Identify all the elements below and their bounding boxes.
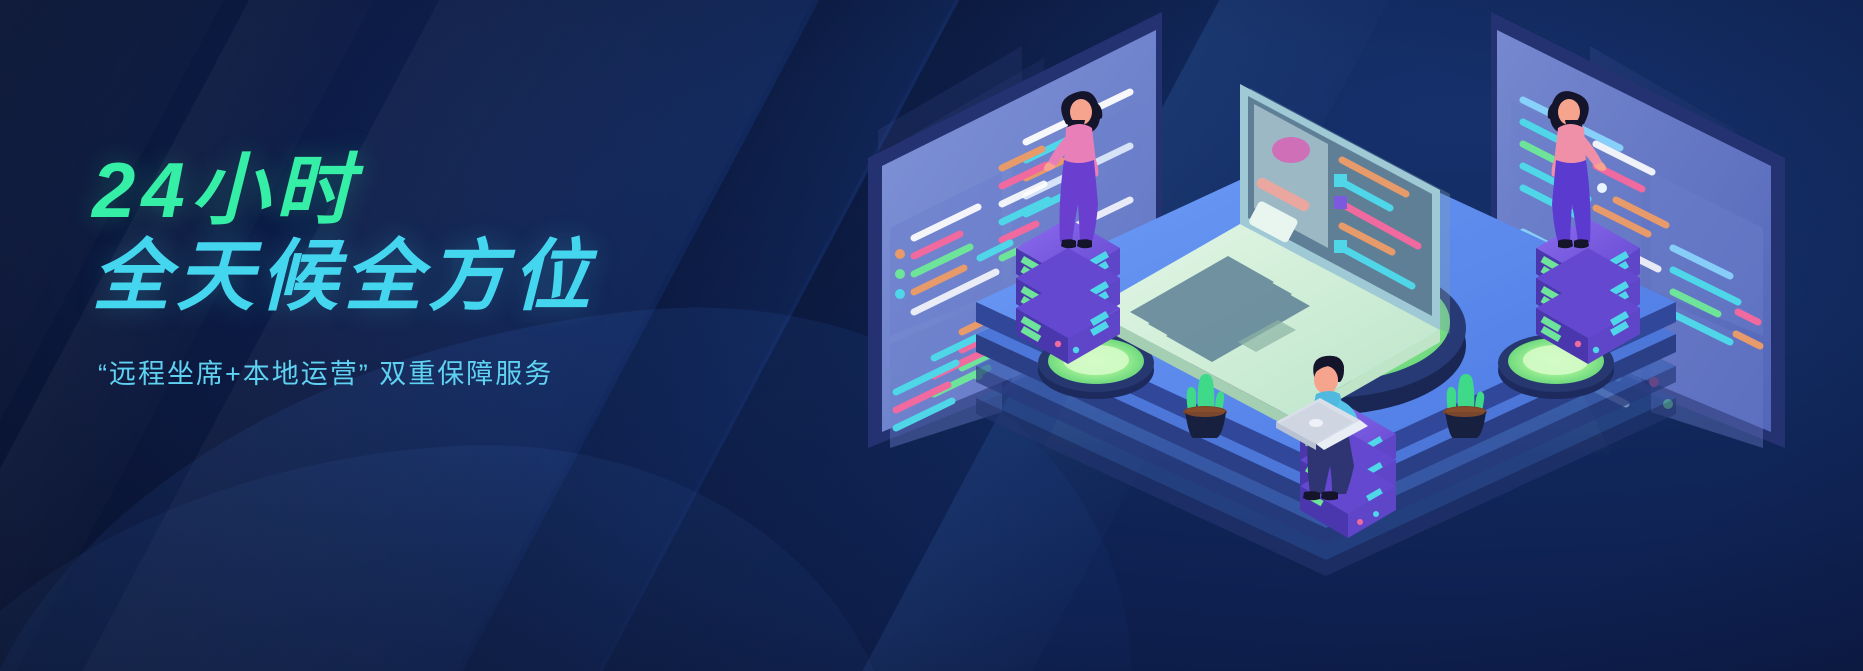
headline-line-1: 24小时 — [92, 150, 732, 232]
headline-line-2: 全天候全方位 — [92, 236, 732, 318]
hero-banner: 24小时 全天候全方位 “远程坐席+本地运营” 双重保障服务 — [0, 0, 1863, 671]
isometric-data-center-illustration — [830, 0, 1863, 671]
hero-copy: 24小时 全天候全方位 “远程坐席+本地运营” 双重保障服务 — [92, 150, 732, 391]
hero-subtitle: “远程坐席+本地运营” 双重保障服务 — [98, 352, 732, 391]
